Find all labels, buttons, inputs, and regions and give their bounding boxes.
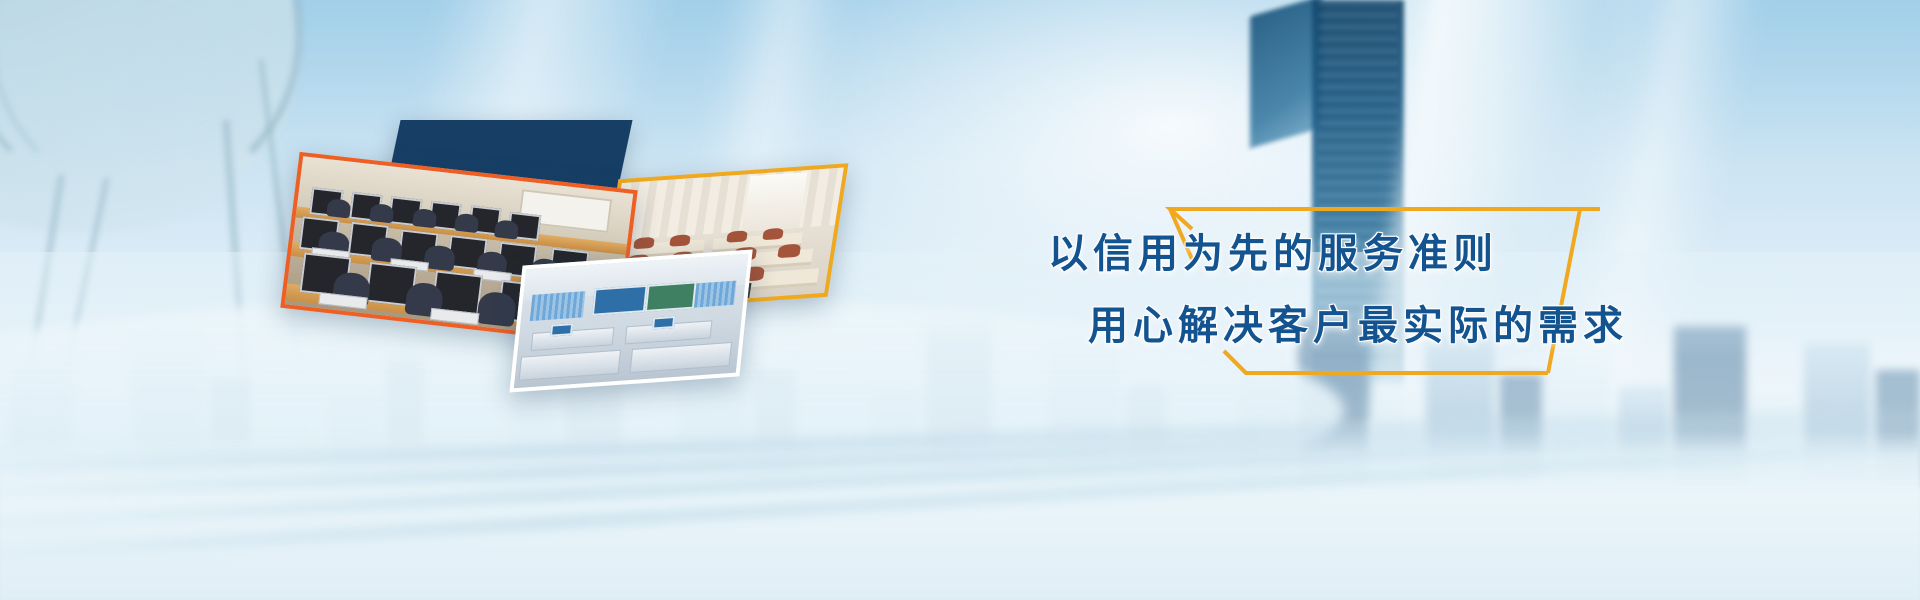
slogan-line-2: 用心解决客户最实际的需求 <box>1088 293 1600 351</box>
slogan-block: 以信用为先的服务准则 用心解决客户最实际的需求 <box>1040 175 1600 390</box>
control-room-photo[interactable] <box>509 249 752 392</box>
slogan-text: 以信用为先的服务准则 用心解决客户最实际的需求 <box>1040 175 1600 390</box>
slogan-line-1: 以信用为先的服务准则 <box>1048 221 1600 279</box>
company-service-banner: 以信用为先的服务准则 用心解决客户最实际的需求 <box>0 0 1920 600</box>
photo-collage <box>0 0 900 480</box>
